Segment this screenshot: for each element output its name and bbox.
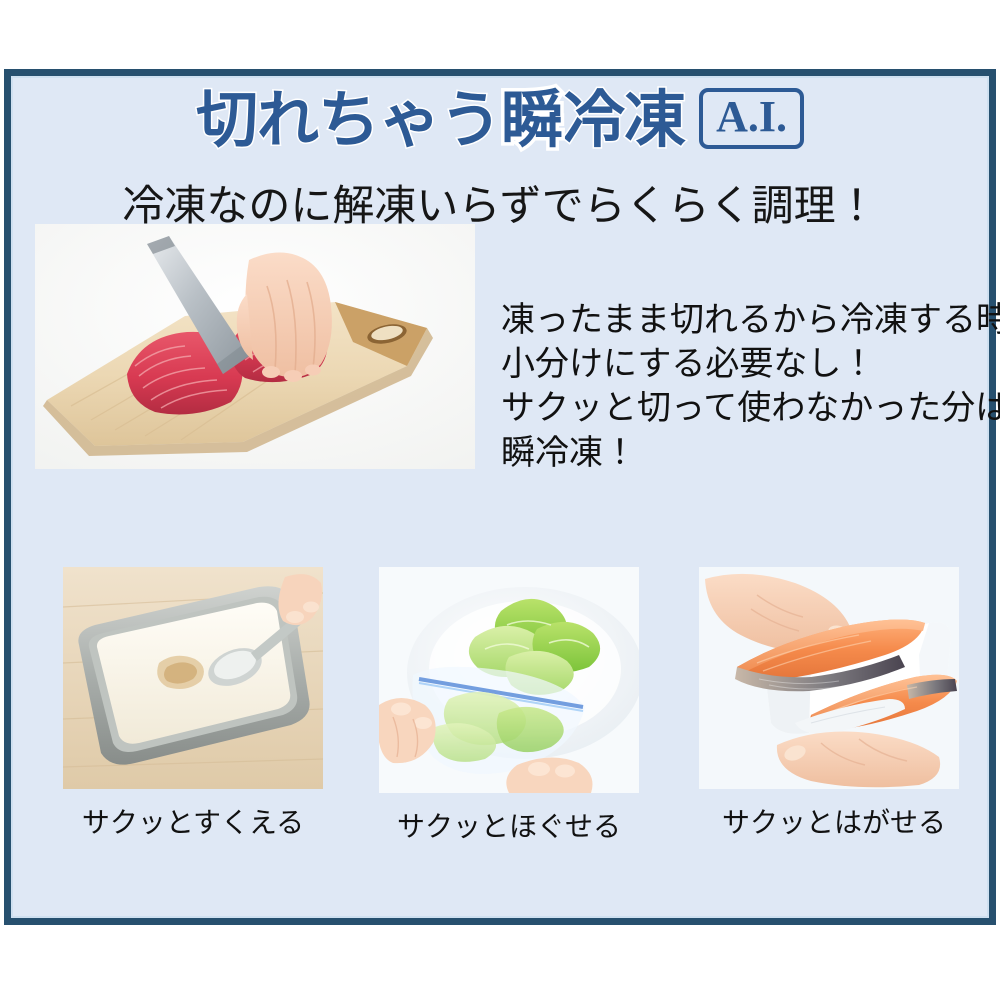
body-line-1: 凍ったまま切れるから冷凍する時、	[501, 298, 981, 342]
title-part-2: 冷凍	[563, 90, 685, 152]
feature-photo-peeling-frozen-salmon	[699, 567, 959, 789]
title-accent-shun: 瞬	[501, 90, 563, 152]
promo-panel: 切れちゃう瞬冷凍A.I. 冷凍なのに解凍いらずでらくらく調理！	[4, 69, 996, 925]
body-line-4: 瞬冷凍！	[501, 431, 981, 475]
feature-caption-1: サクッとすくえる	[63, 801, 323, 841]
feature-item-2: サクッとほぐせる	[379, 567, 639, 845]
feature-photo-scooping-frozen-cream	[63, 567, 323, 789]
ai-badge-label: A.I.	[716, 92, 787, 141]
feature-illustration-3	[699, 567, 959, 789]
feature-caption-2: サクッとほぐせる	[379, 805, 639, 845]
title-part-1: 切れちゃう	[196, 90, 501, 152]
feature-illustration-1	[63, 567, 323, 789]
feature-caption-3: サクッとはがせる	[709, 801, 959, 841]
body-line-2: 小分けにする必要なし！	[501, 342, 981, 386]
feature-item-1: サクッとすくえる	[63, 567, 323, 841]
feature-illustration-2	[379, 567, 639, 793]
headline-group: 切れちゃう瞬冷凍A.I.	[11, 88, 989, 153]
feature-photo-frozen-cabbage-from-bag	[379, 567, 639, 793]
hero-illustration	[35, 224, 475, 469]
hero-body-copy: 凍ったまま切れるから冷凍する時、 小分けにする必要なし！ サクッと切って使わなか…	[501, 298, 981, 475]
body-line-3: サクッと切って使わなかった分はまた	[501, 386, 981, 430]
feature-item-3: サクッとはがせる	[699, 567, 959, 841]
hero-photo-cutting-frozen-meat	[35, 224, 475, 469]
ai-badge: A.I.	[699, 88, 804, 149]
